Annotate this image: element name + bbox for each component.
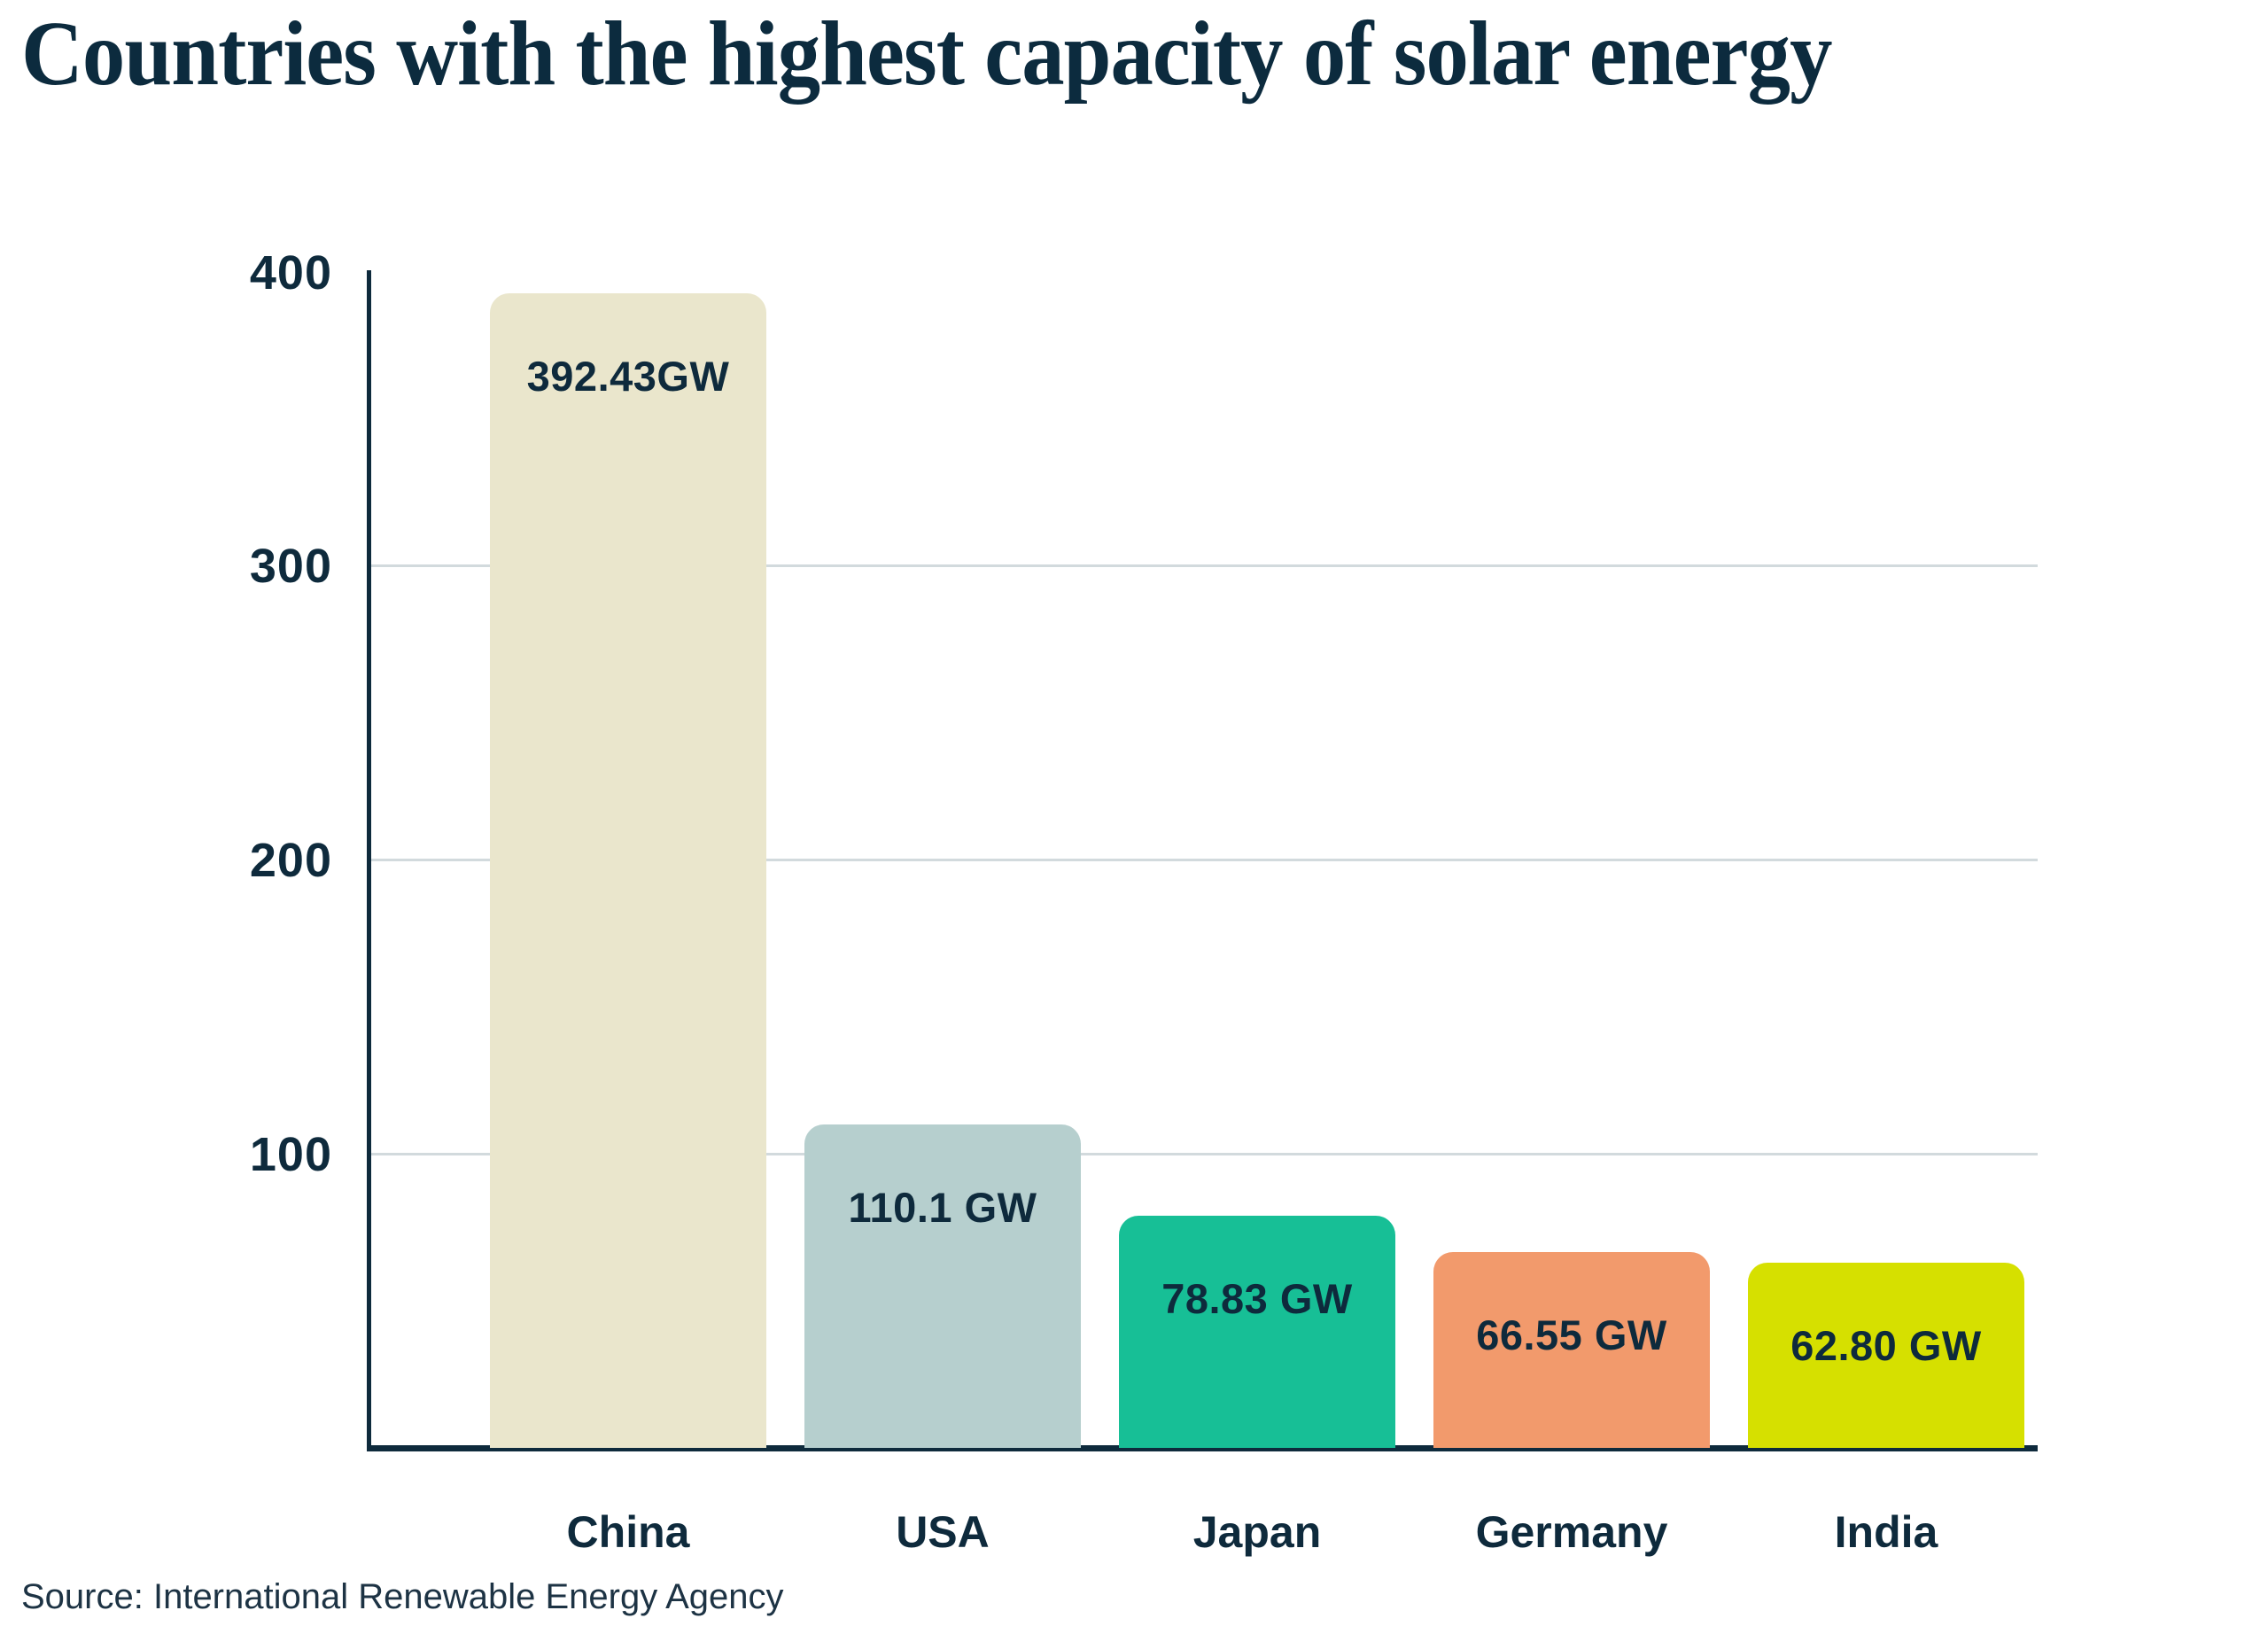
x-axis-label-china: China bbox=[490, 1506, 766, 1558]
y-tick-label-100: 100 bbox=[66, 1127, 332, 1182]
bar-india[interactable]: 62.80 GW bbox=[1748, 1263, 2024, 1448]
x-axis-label-usa: USA bbox=[804, 1506, 1081, 1558]
bar-germany[interactable]: 66.55 GW bbox=[1433, 1252, 1710, 1448]
y-axis-line bbox=[367, 270, 371, 1450]
bar-japan[interactable]: 78.83 GW bbox=[1119, 1216, 1395, 1448]
y-tick-label-400: 400 bbox=[66, 245, 332, 300]
bar-chart-plot-area: 400 300 200 100 392.43GW 110.1 GW 78.83 … bbox=[0, 0, 2268, 1626]
source-note: Source: International Renewable Energy A… bbox=[21, 1577, 784, 1617]
x-axis-label-india: India bbox=[1748, 1506, 2024, 1558]
bar-value-india: 62.80 GW bbox=[1748, 1321, 2024, 1370]
x-axis-label-japan: Japan bbox=[1119, 1506, 1395, 1558]
bar-china[interactable]: 392.43GW bbox=[490, 293, 766, 1448]
x-axis-label-germany: Germany bbox=[1433, 1506, 1710, 1558]
bar-value-usa: 110.1 GW bbox=[804, 1183, 1081, 1232]
bar-value-china: 392.43GW bbox=[490, 352, 766, 401]
y-tick-label-200: 200 bbox=[66, 833, 332, 888]
bar-usa[interactable]: 110.1 GW bbox=[804, 1124, 1081, 1448]
bar-value-japan: 78.83 GW bbox=[1119, 1274, 1395, 1323]
bar-value-germany: 66.55 GW bbox=[1433, 1311, 1710, 1359]
y-tick-label-300: 300 bbox=[66, 539, 332, 594]
